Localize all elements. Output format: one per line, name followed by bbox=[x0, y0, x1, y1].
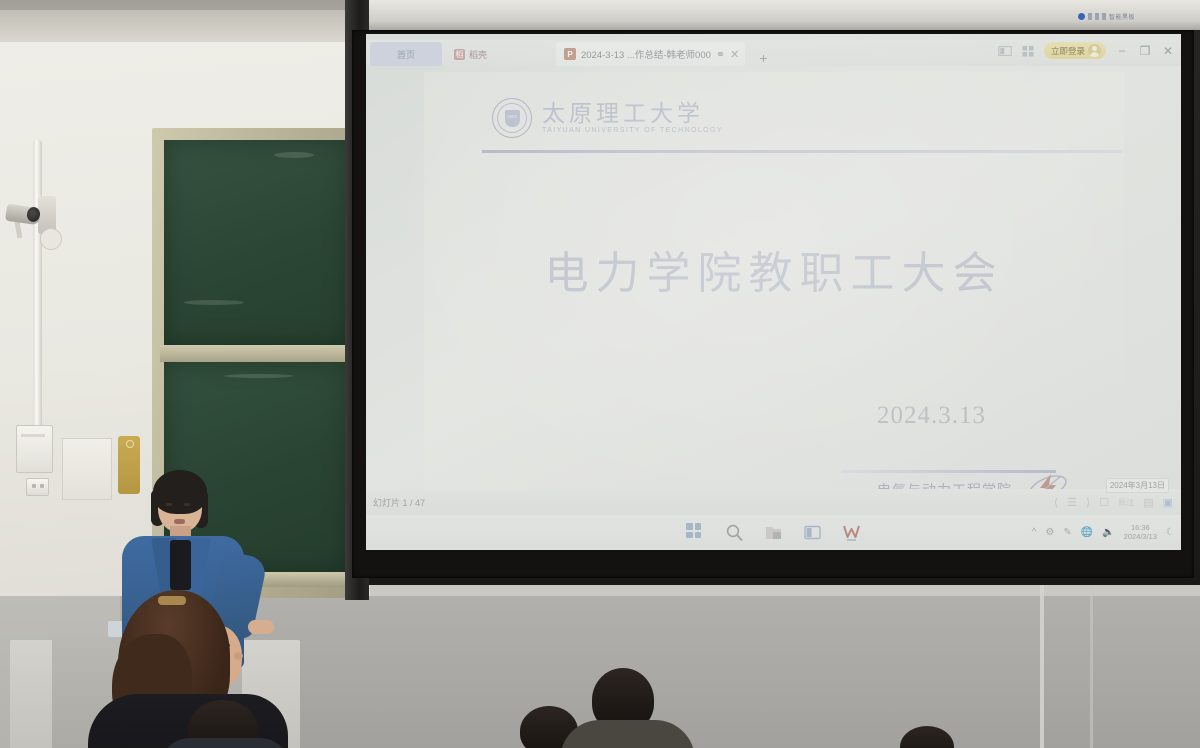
windows-taskbar: ^ ⚙ ✎ 🌐 🔈 16:36 2024/3/13 ☾ bbox=[366, 515, 1181, 550]
system-tray: ^ ⚙ ✎ 🌐 🔈 16:36 2024/3/13 ☾ bbox=[1032, 524, 1175, 541]
university-name-en: TAIYUAN UNIVERSITY OF TECHNOLOGY bbox=[542, 127, 723, 134]
power-outlet bbox=[26, 478, 49, 496]
network-globe-icon[interactable]: 🌐 bbox=[1081, 527, 1093, 538]
date-tooltip: 2024年3月13日 bbox=[1106, 478, 1169, 493]
notes-label: 批注 bbox=[1118, 497, 1134, 508]
chevron-right-icon[interactable]: ⟩ bbox=[1086, 496, 1090, 509]
slide-header-divider bbox=[482, 150, 1122, 153]
slide-canvas-area: 1902 太原理工大学 TAIYUAN UNIVERSITY OF TECHNO… bbox=[366, 66, 1181, 508]
tray-date: 2024/3/13 bbox=[1124, 533, 1157, 542]
user-avatar-icon bbox=[1088, 44, 1101, 57]
slide-title: 电力学院教职工大会 bbox=[424, 237, 1124, 301]
seal-shield-shape: 1902 bbox=[505, 110, 520, 127]
university-branding: 1902 太原理工大学 TAIYUAN UNIVERSITY OF TECHNO… bbox=[492, 98, 723, 138]
slideshow-play-icon[interactable]: ▣ bbox=[1163, 496, 1173, 509]
projected-desktop: 首页 稻 稻壳 P 2024-3-13 ...作总结-韩老师000 ⚭ ✕ + bbox=[366, 34, 1181, 550]
list-view-icon[interactable]: ☰ bbox=[1067, 496, 1077, 509]
classroom-scene: 智能黑板 首页 稻 稻壳 P 2024-3-13 ...作总结-韩老师000 ⚭… bbox=[0, 0, 1200, 748]
pen-icon[interactable]: ✎ bbox=[1063, 527, 1071, 538]
status-bar-controls: ⟨ ☰ ⟩ ☐ 批注 ▤ ▣ 2024年3月13日 bbox=[1054, 496, 1173, 509]
university-name-cn: 太原理工大学 bbox=[542, 102, 723, 125]
tray-clock[interactable]: 16:36 2024/3/13 bbox=[1124, 524, 1157, 541]
tab-active-document[interactable]: P 2024-3-13 ...作总结-韩老师000 ⚭ ✕ bbox=[556, 42, 745, 66]
wall-seam-secondary bbox=[1090, 560, 1093, 748]
powerpoint-icon: P bbox=[564, 48, 576, 60]
chalkboard-upper-panel bbox=[164, 140, 348, 345]
tab-docer-label: 稻壳 bbox=[469, 48, 487, 61]
wall-seam bbox=[1040, 560, 1044, 748]
audience-shoulders bbox=[160, 738, 290, 748]
slide-footer-divider bbox=[841, 470, 1056, 473]
task-view-icon[interactable] bbox=[803, 523, 822, 542]
split-view-icon[interactable] bbox=[998, 45, 1012, 57]
close-icon[interactable]: ✕ bbox=[730, 48, 739, 61]
search-icon[interactable] bbox=[725, 523, 744, 542]
tab-docer[interactable]: 稻 稻壳 bbox=[442, 42, 538, 66]
minimize-button[interactable]: − bbox=[1115, 44, 1129, 58]
wall-pipe bbox=[33, 140, 42, 440]
notes-icon[interactable]: ☐ bbox=[1099, 496, 1109, 509]
camera-mount-plate bbox=[40, 228, 62, 250]
screen-top-frame bbox=[345, 0, 1200, 30]
chevron-left-icon[interactable]: ⟨ bbox=[1054, 496, 1058, 509]
tab-home[interactable]: 首页 bbox=[370, 42, 442, 66]
university-names: 太原理工大学 TAIYUAN UNIVERSITY OF TECHNOLOGY bbox=[542, 102, 723, 134]
wps-office-icon[interactable] bbox=[842, 523, 861, 542]
chalkboard-middle-rail bbox=[160, 345, 352, 362]
slide-1[interactable]: 1902 太原理工大学 TAIYUAN UNIVERSITY OF TECHNO… bbox=[424, 72, 1124, 502]
comment-icon[interactable]: ⚭ bbox=[716, 48, 725, 61]
volume-icon[interactable]: 🔈 bbox=[1102, 527, 1114, 538]
chevron-up-icon[interactable]: ^ bbox=[1032, 527, 1037, 538]
slide-counter: 幻灯片 1 / 47 bbox=[373, 496, 425, 509]
slide-date: 2024.3.13 bbox=[877, 402, 986, 430]
plus-icon[interactable]: + bbox=[759, 50, 767, 66]
screen-brand-logo: 智能黑板 bbox=[1078, 10, 1158, 22]
grid-apps-icon[interactable] bbox=[1021, 45, 1035, 57]
gear-icon[interactable]: ⚙ bbox=[1045, 527, 1054, 538]
titlebar-right-controls: 立即登录 − ❐ ✕ bbox=[998, 42, 1175, 59]
seal-year: 1902 bbox=[505, 114, 520, 119]
windows-start-icon[interactable] bbox=[686, 523, 705, 542]
slide-status-bar: 幻灯片 1 / 47 ⟨ ☰ ⟩ ☐ 批注 ▤ ▣ 2024年3月13日 bbox=[366, 489, 1181, 515]
login-label: 立即登录 bbox=[1051, 45, 1085, 57]
window-close-button[interactable]: ✕ bbox=[1161, 44, 1175, 58]
reading-view-icon[interactable]: ▤ bbox=[1143, 496, 1153, 509]
electrical-box bbox=[16, 425, 53, 473]
university-seal-icon: 1902 bbox=[492, 98, 532, 138]
login-button[interactable]: 立即登录 bbox=[1044, 42, 1106, 59]
docer-icon: 稻 bbox=[454, 49, 465, 60]
wall-notice-paper bbox=[62, 438, 112, 500]
maximize-button[interactable]: ❐ bbox=[1138, 44, 1152, 58]
moon-notification-icon[interactable]: ☾ bbox=[1166, 527, 1175, 538]
file-explorer-icon[interactable] bbox=[764, 523, 783, 542]
screen-brand-label: 智能黑板 bbox=[1109, 12, 1135, 21]
electrical-box-label bbox=[21, 434, 45, 437]
tab-document-label: 2024-3-13 ...作总结-韩老师000 bbox=[581, 47, 711, 61]
